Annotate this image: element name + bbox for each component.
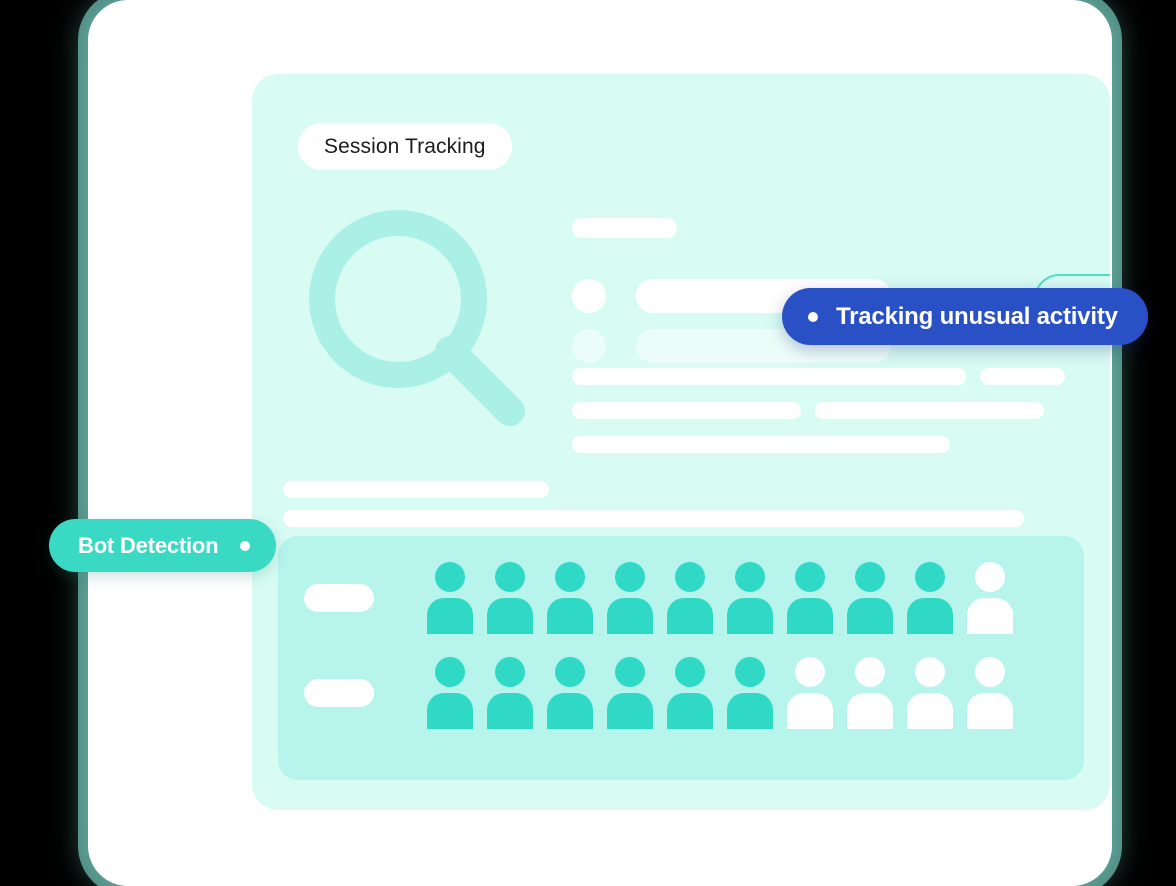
skeleton-bar [572, 368, 966, 385]
person-icon-bot [904, 657, 956, 729]
screenshot-stage: Session Tracking [0, 0, 1176, 886]
person-icon-human [724, 657, 776, 729]
person-icon-bot [844, 657, 896, 729]
person-icon-human [784, 562, 836, 634]
person-icon-human [424, 562, 476, 634]
person-icon-human [664, 562, 716, 634]
person-icon-human [604, 562, 656, 634]
skeleton-wide-bar [283, 510, 1024, 527]
skeleton-title-bar [572, 218, 677, 238]
tracking-unusual-activity-label: Tracking unusual activity [836, 303, 1118, 331]
status-dot-icon [808, 312, 818, 322]
person-icon-human [424, 657, 476, 729]
bot-detection-badge[interactable]: Bot Detection [49, 519, 276, 572]
skeleton-text-row [572, 436, 1072, 453]
people-row-1 [304, 562, 1024, 634]
skeleton-bar [815, 402, 1044, 419]
dashboard-panel: Session Tracking [252, 74, 1110, 810]
session-tracking-label: Session Tracking [324, 135, 486, 159]
search-icon [298, 199, 538, 439]
skeleton-text-rows [572, 368, 1072, 470]
person-icon-human [604, 657, 656, 729]
person-icon-human [844, 562, 896, 634]
device-card: Session Tracking [88, 0, 1112, 886]
person-icon-bot [964, 562, 1016, 634]
skeleton-text-row [572, 402, 1072, 419]
skeleton-header-group [572, 218, 1072, 238]
tracking-unusual-activity-badge[interactable]: Tracking unusual activity [782, 288, 1148, 345]
person-icon-human [484, 562, 536, 634]
skeleton-bar [572, 436, 950, 453]
skeleton-bar [572, 402, 801, 419]
person-icon-human [544, 562, 596, 634]
session-tracking-chip[interactable]: Session Tracking [298, 123, 512, 170]
skeleton-text-row [572, 368, 1072, 385]
row-label-pill [304, 679, 374, 707]
skeleton-bar [980, 368, 1065, 385]
avatar [572, 329, 606, 363]
person-icon-bot [964, 657, 1016, 729]
person-icon-human [544, 657, 596, 729]
person-icon-human [904, 562, 956, 634]
bot-detection-label: Bot Detection [78, 533, 218, 559]
person-icon-bot [784, 657, 836, 729]
row-label-pill [304, 584, 374, 612]
person-icon-human [724, 562, 776, 634]
avatar [572, 279, 606, 313]
bot-detection-people-panel [278, 536, 1084, 780]
person-icon-human [484, 657, 536, 729]
status-dot-icon [240, 541, 250, 551]
skeleton-wide-bar [283, 481, 549, 498]
people-row-2 [304, 657, 1024, 729]
person-icon-human [664, 657, 716, 729]
